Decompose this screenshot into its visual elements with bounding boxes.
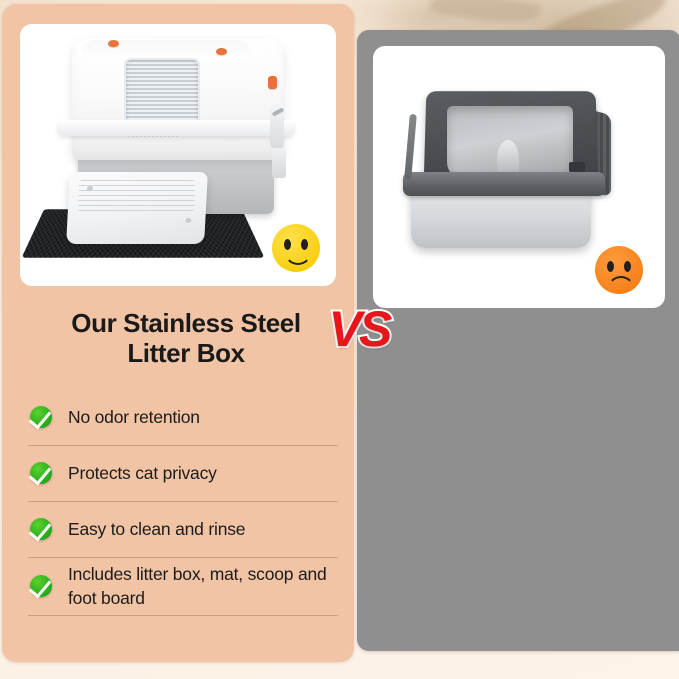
plastic-box-interior bbox=[447, 106, 573, 180]
eye bbox=[624, 261, 631, 272]
orange-knob-icon bbox=[216, 48, 227, 55]
green-check-icon bbox=[28, 459, 62, 487]
list-divider bbox=[28, 615, 338, 616]
list-item: Protects cat privacy bbox=[28, 446, 338, 502]
green-check-icon bbox=[28, 515, 62, 543]
sad-face-icon bbox=[595, 246, 643, 294]
list-item: No odor retention bbox=[28, 390, 338, 446]
plastic-box-rim bbox=[403, 172, 605, 196]
orange-latch-icon bbox=[268, 76, 277, 89]
eye bbox=[607, 261, 614, 272]
list-item: Includes litter box, mat, scoop and foot… bbox=[28, 558, 338, 616]
side-latch bbox=[272, 148, 286, 178]
foot-board-grid bbox=[78, 180, 196, 212]
feature-text: Includes litter box, mat, scoop and foot… bbox=[68, 562, 338, 610]
orange-knob-icon bbox=[108, 40, 119, 47]
comparison-infographic: Our Stainless Steel Litter Box No odor r… bbox=[0, 0, 679, 679]
stainless-steel-litter-box-photo bbox=[20, 24, 336, 286]
right-comparison-panel: Other Plastic Litter Boxes Odor absorbs … bbox=[357, 30, 679, 651]
left-panel-title: Our Stainless Steel Litter Box bbox=[42, 308, 330, 368]
happy-face-icon bbox=[272, 224, 320, 272]
left-feature-list: No odor retention Protects cat privacy E… bbox=[28, 390, 338, 616]
list-item: Easy to clean and rinse bbox=[28, 502, 338, 558]
left-title-line-2: Litter Box bbox=[42, 338, 330, 368]
green-check-icon bbox=[28, 403, 62, 431]
smile-mouth bbox=[284, 248, 312, 265]
hood-front-lip bbox=[58, 120, 294, 136]
left-title-line-1: Our Stainless Steel bbox=[71, 308, 300, 338]
right-product-image-card bbox=[373, 46, 665, 308]
feature-text: No odor retention bbox=[68, 405, 200, 429]
plastic-litter-box-photo bbox=[373, 46, 665, 308]
scoop-handle bbox=[404, 114, 417, 180]
vs-badge: VS bbox=[318, 298, 400, 360]
left-product-image-card bbox=[20, 24, 336, 286]
frown-mouth bbox=[607, 276, 635, 293]
foot-board bbox=[66, 172, 208, 244]
leaf-shadow-icon bbox=[429, 0, 541, 28]
scoop-handle bbox=[270, 104, 284, 148]
side-latch bbox=[569, 162, 585, 172]
feature-text: Protects cat privacy bbox=[68, 461, 217, 485]
foot-board-dot bbox=[185, 218, 191, 223]
feature-text: Easy to clean and rinse bbox=[68, 517, 245, 541]
green-check-icon bbox=[28, 572, 62, 600]
left-comparison-panel: Our Stainless Steel Litter Box No odor r… bbox=[2, 4, 354, 662]
